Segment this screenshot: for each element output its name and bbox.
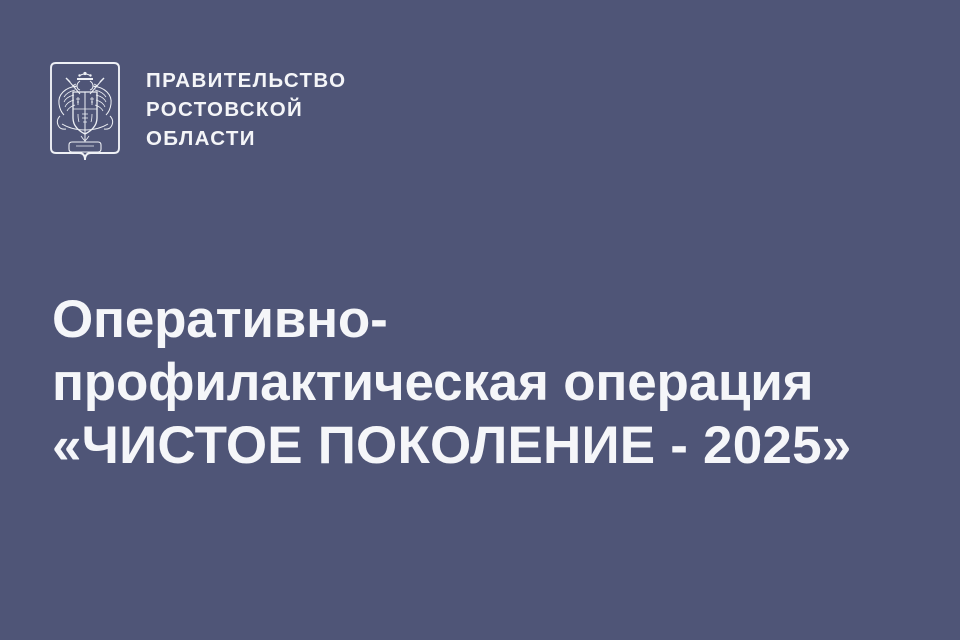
logo-line-3: ОБЛАСТИ <box>146 124 346 153</box>
page-title: Оперативно- профилактическая операция «Ч… <box>52 288 942 477</box>
poster-canvas: ПРАВИТЕЛЬСТВО РОСТОВСКОЙ ОБЛАСТИ Операти… <box>0 0 960 640</box>
logo-line-2: РОСТОВСКОЙ <box>146 95 346 124</box>
government-logo-lockup: ПРАВИТЕЛЬСТВО РОСТОВСКОЙ ОБЛАСТИ <box>46 60 346 168</box>
logo-line-1: ПРАВИТЕЛЬСТВО <box>146 66 346 95</box>
headline-line-2: профилактическая операция <box>52 351 942 414</box>
rostov-oblast-coat-of-arms-icon <box>46 60 124 168</box>
headline-line-1: Оперативно- <box>52 288 942 351</box>
government-wordmark: ПРАВИТЕЛЬСТВО РОСТОВСКОЙ ОБЛАСТИ <box>146 60 346 153</box>
headline-line-3: «ЧИСТОЕ ПОКОЛЕНИЕ - 2025» <box>52 414 942 477</box>
